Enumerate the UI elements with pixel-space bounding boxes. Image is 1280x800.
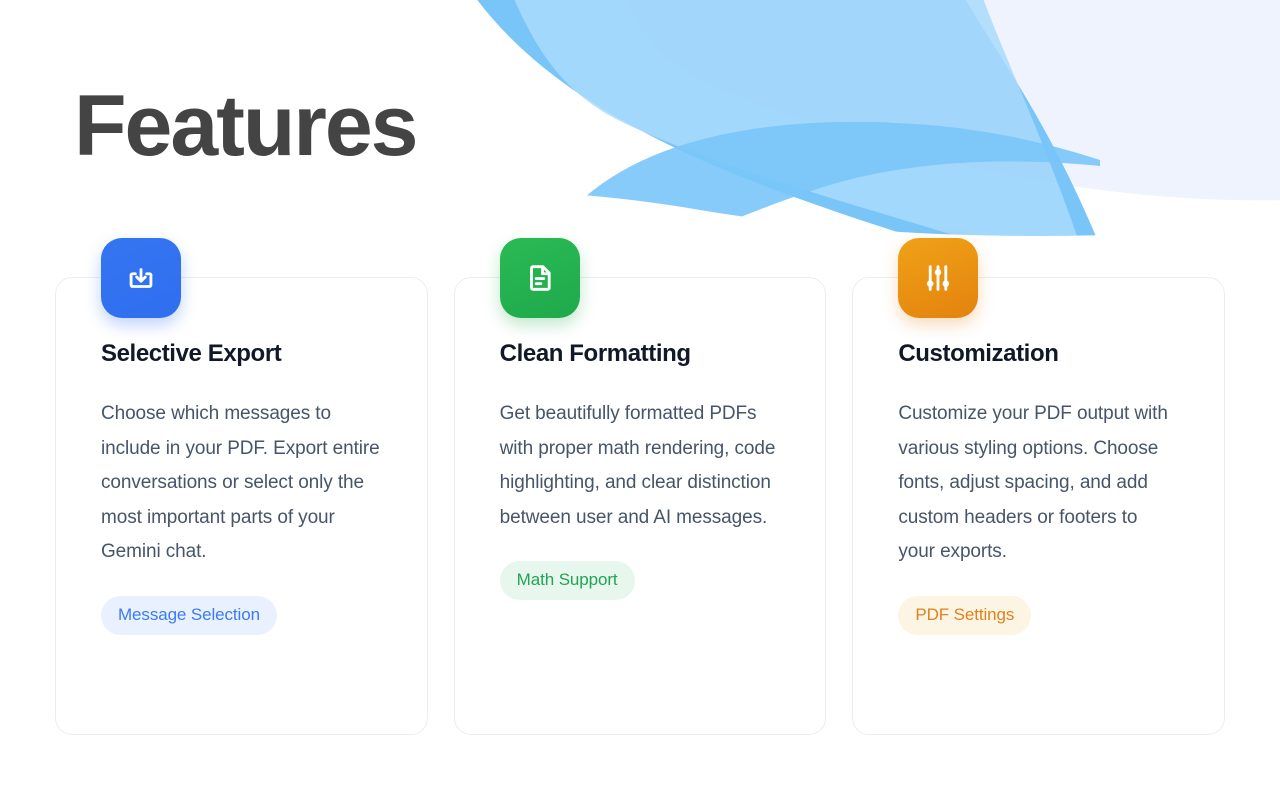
wave-sky-mid: [510, 0, 1090, 278]
card-title: Customization: [898, 340, 1179, 368]
page-title: Features: [74, 78, 417, 174]
feature-card-selective-export[interactable]: Selective Export Choose which messages t…: [55, 277, 428, 735]
feature-card-customization[interactable]: Customization Customize your PDF output …: [852, 277, 1225, 735]
file-text-icon: [500, 238, 580, 318]
sliders-icon: [898, 238, 978, 318]
download-tray-icon: [101, 238, 181, 318]
card-title: Clean Formatting: [500, 340, 781, 368]
card-badge[interactable]: Math Support: [500, 561, 635, 600]
wave-pale-lavender: [620, 0, 1280, 200]
card-description: Customize your PDF output with various s…: [898, 397, 1179, 570]
card-badge[interactable]: PDF Settings: [898, 596, 1031, 635]
card-description: Choose which messages to include in your…: [101, 397, 382, 570]
feature-card-clean-formatting[interactable]: Clean Formatting Get beautifully formatt…: [454, 277, 827, 735]
card-badge[interactable]: Message Selection: [101, 596, 277, 635]
feature-cards-row: Selective Export Choose which messages t…: [55, 277, 1225, 735]
card-description: Get beautifully formatted PDFs with prop…: [500, 397, 781, 535]
wave-sky-accent: [567, 122, 1100, 292]
wave-periwinkle: [860, 0, 1280, 180]
card-title: Selective Export: [101, 340, 382, 368]
